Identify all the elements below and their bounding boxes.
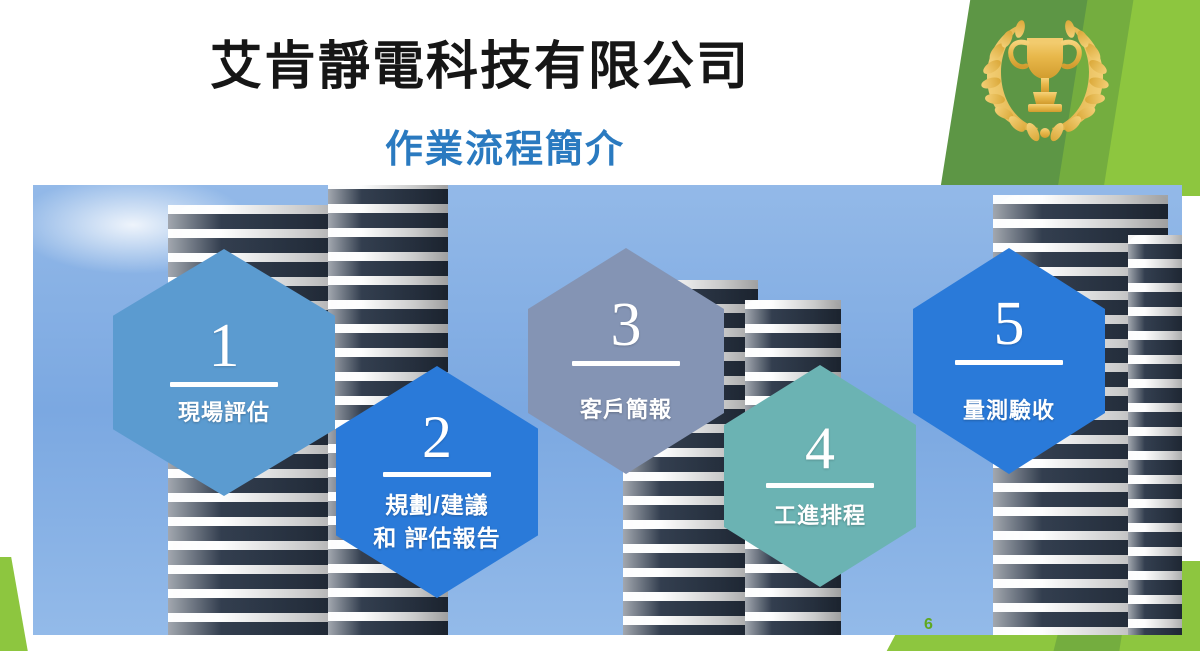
step-divider [572, 361, 680, 366]
step-number: 3 [611, 296, 642, 355]
step-number: 1 [209, 317, 240, 376]
step-divider [955, 360, 1063, 365]
step-number: 4 [805, 420, 835, 477]
step-divider [383, 472, 491, 477]
step-label: 規劃/建議 [385, 489, 488, 522]
step-number: 5 [994, 295, 1025, 354]
step-label: 現場評估 [178, 397, 270, 429]
step-label-line2: 和 評估報告 [373, 522, 500, 555]
step-divider [170, 382, 278, 387]
step-label: 量測驗收 [963, 395, 1055, 427]
page-subtitle: 作業流程簡介 [0, 118, 1010, 173]
page-number: 6 [924, 616, 933, 634]
slide: 艾肯靜電科技有限公司 作業流程簡介 1 現場評估 2 規劃/建議 和 評估報告 … [0, 0, 1200, 651]
step-label: 工進排程 [774, 500, 866, 532]
bottom-left-green-decoration [0, 557, 29, 651]
step-label: 客戶簡報 [580, 394, 672, 426]
step-divider [766, 483, 874, 488]
step-number: 2 [422, 409, 452, 466]
building-tower [1128, 235, 1182, 635]
page-title: 艾肯靜電科技有限公司 [0, 24, 960, 99]
